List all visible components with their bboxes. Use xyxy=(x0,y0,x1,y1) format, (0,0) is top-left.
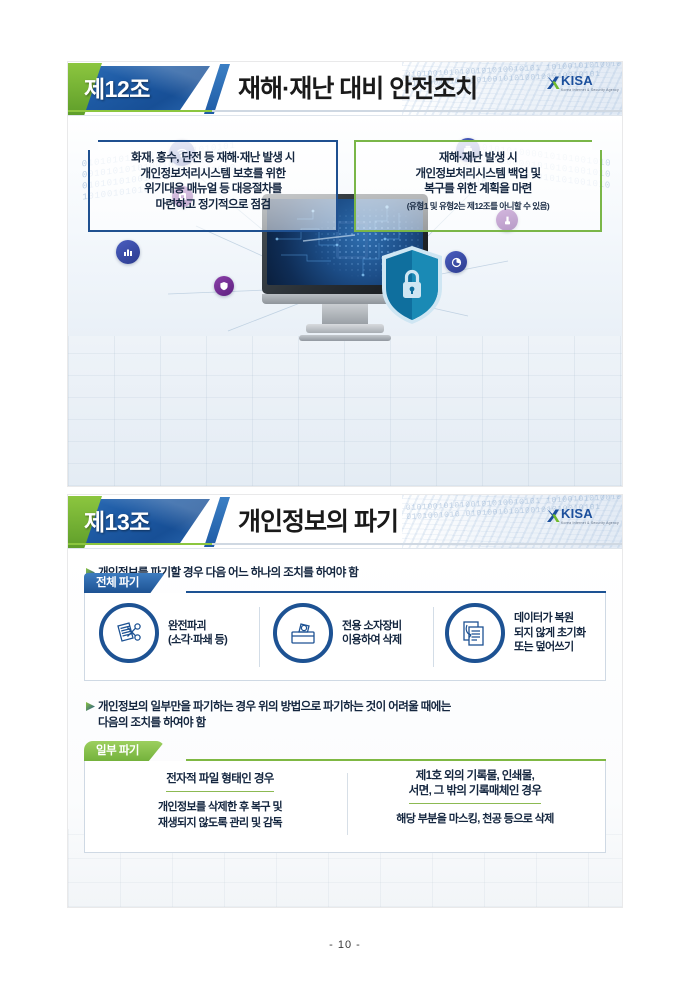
partial-case-2-heading-line-1: 제1호 외의 기록물, 인쇄물, xyxy=(409,769,542,784)
article-badge-label: 제13조 xyxy=(78,501,204,543)
header-underline xyxy=(68,543,622,545)
partial-case-1-body: 개인정보를 삭제한 후 복구 및 재생되지 않도록 관리 및 감독 xyxy=(101,800,339,831)
chart-bar-icon xyxy=(116,240,140,264)
panel-full-destruction: 완전파괴 (소각·파쇄 등) xyxy=(84,593,606,681)
option-overwrite: 데이터가 복원 되지 않게 초기화 또는 덮어쓰기 xyxy=(445,603,586,663)
monitor-stand xyxy=(322,304,368,324)
option-2-line-1: 전용 소자장비 xyxy=(342,619,402,634)
kisa-logo-subtext: Korea Internet & Security Agency xyxy=(561,88,619,92)
option-3-text: 데이터가 복원 되지 않게 초기화 또는 덮어쓰기 xyxy=(514,611,586,655)
option-3-line-1: 데이터가 복원 xyxy=(514,611,586,626)
partial-panel-divider xyxy=(347,773,348,835)
page-number: - 10 - xyxy=(0,939,690,951)
callout-right-note: (유형1 및 유형2는 제12조를 아니할 수 있음) xyxy=(362,200,594,212)
kisa-logo: KISA Korea Internet & Security Agency xyxy=(546,506,608,532)
tab-partial-destruction: 일부 파기 xyxy=(84,741,165,761)
panel-divider-1 xyxy=(259,607,260,667)
callout-left-line-4: 마련하고 정기적으로 점검 xyxy=(96,198,330,214)
slide-12-header: 제12조 재해·재난 대비 안전조치 KISA Korea Internet &… xyxy=(68,62,622,116)
partial-case-2-body: 해당 부분을 마스킹, 천공 등으로 삭제 xyxy=(357,812,593,828)
overwrite-documents-icon xyxy=(445,603,505,663)
option-complete-destruction: 완전파괴 (소각·파쇄 등) xyxy=(99,603,227,663)
panel-partial-destruction: 전자적 파일 형태인 경우 개인정보를 삭제한 후 복구 및 재생되지 않도록 … xyxy=(84,761,606,853)
kisa-k-mark-icon xyxy=(546,75,560,90)
partial-case-1-body-line-2: 재생되지 않도록 관리 및 감독 xyxy=(101,816,339,832)
callout-right: 재해·재난 발생 시 개인정보처리시스템 백업 및 복구를 위한 계획을 마련 … xyxy=(354,140,602,232)
partial-case-1-body-line-1: 개인정보를 삭제한 후 복구 및 xyxy=(101,800,339,816)
monitor-base xyxy=(306,324,384,333)
tab-full-destruction: 전체 파기 xyxy=(84,573,165,593)
kisa-logo-text: KISA xyxy=(561,73,593,88)
document-page: 제12조 재해·재난 대비 안전조치 KISA Korea Internet &… xyxy=(0,0,690,981)
callout-right-line-3: 복구를 위한 계획을 마련 xyxy=(362,182,594,198)
slide-13-header: 제13조 개인정보의 파기 KISA Korea Internet & Secu… xyxy=(68,495,622,549)
slide-13-title: 개인정보의 파기 xyxy=(238,503,398,541)
option-3-line-2: 되지 않게 초기화 xyxy=(514,626,586,641)
callout-left-line-3: 위기대응 매뉴얼 등 대응절차를 xyxy=(96,182,330,198)
lock-shield xyxy=(378,244,446,326)
option-1-line-1: 완전파괴 xyxy=(168,619,227,634)
option-1-text: 완전파괴 (소각·파쇄 등) xyxy=(168,619,227,648)
kisa-logo: KISA Korea Internet & Security Agency xyxy=(546,73,608,99)
option-1-line-2: (소각·파쇄 등) xyxy=(168,633,227,648)
partial-case-2-heading-line-2: 서면, 그 밖의 기록매체인 경우 xyxy=(409,784,542,799)
slide-article-12: 제12조 재해·재난 대비 안전조치 KISA Korea Internet &… xyxy=(68,62,622,486)
bullet-arrow-icon xyxy=(86,702,95,711)
bullet-item-2-line-1: 개인정보의 일부만을 파기하는 경우 위의 방법으로 파기하는 것이 어려울 때… xyxy=(98,701,451,713)
monitor-base-foot xyxy=(299,335,391,341)
kisa-k-mark-icon xyxy=(546,508,560,523)
bullet-item-2: 개인정보의 일부만을 파기하는 경우 위의 방법으로 파기하는 것이 어려울 때… xyxy=(86,699,596,731)
header-underline xyxy=(68,110,622,112)
shield-check-icon xyxy=(214,276,234,296)
callout-left: 화재, 홍수, 단전 등 재해·재난 발생 시 개인정보처리시스템 보호를 위한… xyxy=(88,140,338,232)
option-2-line-2: 이용하여 삭제 xyxy=(342,633,402,648)
slide-12-body: 0101010101010100101010101001010101010010… xyxy=(68,116,622,486)
callout-right-line-2: 개인정보처리시스템 백업 및 xyxy=(362,167,594,183)
kisa-logo-text: KISA xyxy=(561,506,593,521)
partial-case-printed: 제1호 외의 기록물, 인쇄물, 서면, 그 밖의 기록매체인 경우 해당 부분… xyxy=(357,769,593,828)
partial-case-1-heading: 전자적 파일 형태인 경우 xyxy=(166,772,274,792)
kisa-logo-subtext: Korea Internet & Security Agency xyxy=(561,521,619,525)
option-3-line-3: 또는 덮어쓰기 xyxy=(514,640,586,655)
slide-article-13: 제13조 개인정보의 파기 KISA Korea Internet & Secu… xyxy=(68,495,622,907)
bullet-item-2-line-2: 다음의 조치를 하여야 함 xyxy=(86,715,596,731)
pie-chart-icon xyxy=(445,251,467,273)
partial-case-2-heading: 제1호 외의 기록물, 인쇄물, 서면, 그 밖의 기록매체인 경우 xyxy=(409,769,542,804)
partial-case-electronic: 전자적 파일 형태인 경우 개인정보를 삭제한 후 복구 및 재생되지 않도록 … xyxy=(101,769,339,831)
callout-left-line-1: 화재, 홍수, 단전 등 재해·재난 발생 시 xyxy=(96,151,330,167)
shredder-box-icon xyxy=(273,603,333,663)
document-scissors-icon xyxy=(99,603,159,663)
slide-13-body: 개인정보를 파기할 경우 다음 어느 하나의 조치를 하여야 함 전체 파기 xyxy=(68,549,622,907)
article-badge-label: 제12조 xyxy=(78,68,204,110)
option-2-text: 전용 소자장비 이용하여 삭제 xyxy=(342,619,402,648)
callout-right-line-1: 재해·재난 발생 시 xyxy=(362,151,594,167)
panel-divider-2 xyxy=(433,607,434,667)
option-degausser: 전용 소자장비 이용하여 삭제 xyxy=(273,603,402,663)
callout-left-line-2: 개인정보처리시스템 보호를 위한 xyxy=(96,167,330,183)
slide-12-title: 재해·재난 대비 안전조치 xyxy=(238,70,477,108)
